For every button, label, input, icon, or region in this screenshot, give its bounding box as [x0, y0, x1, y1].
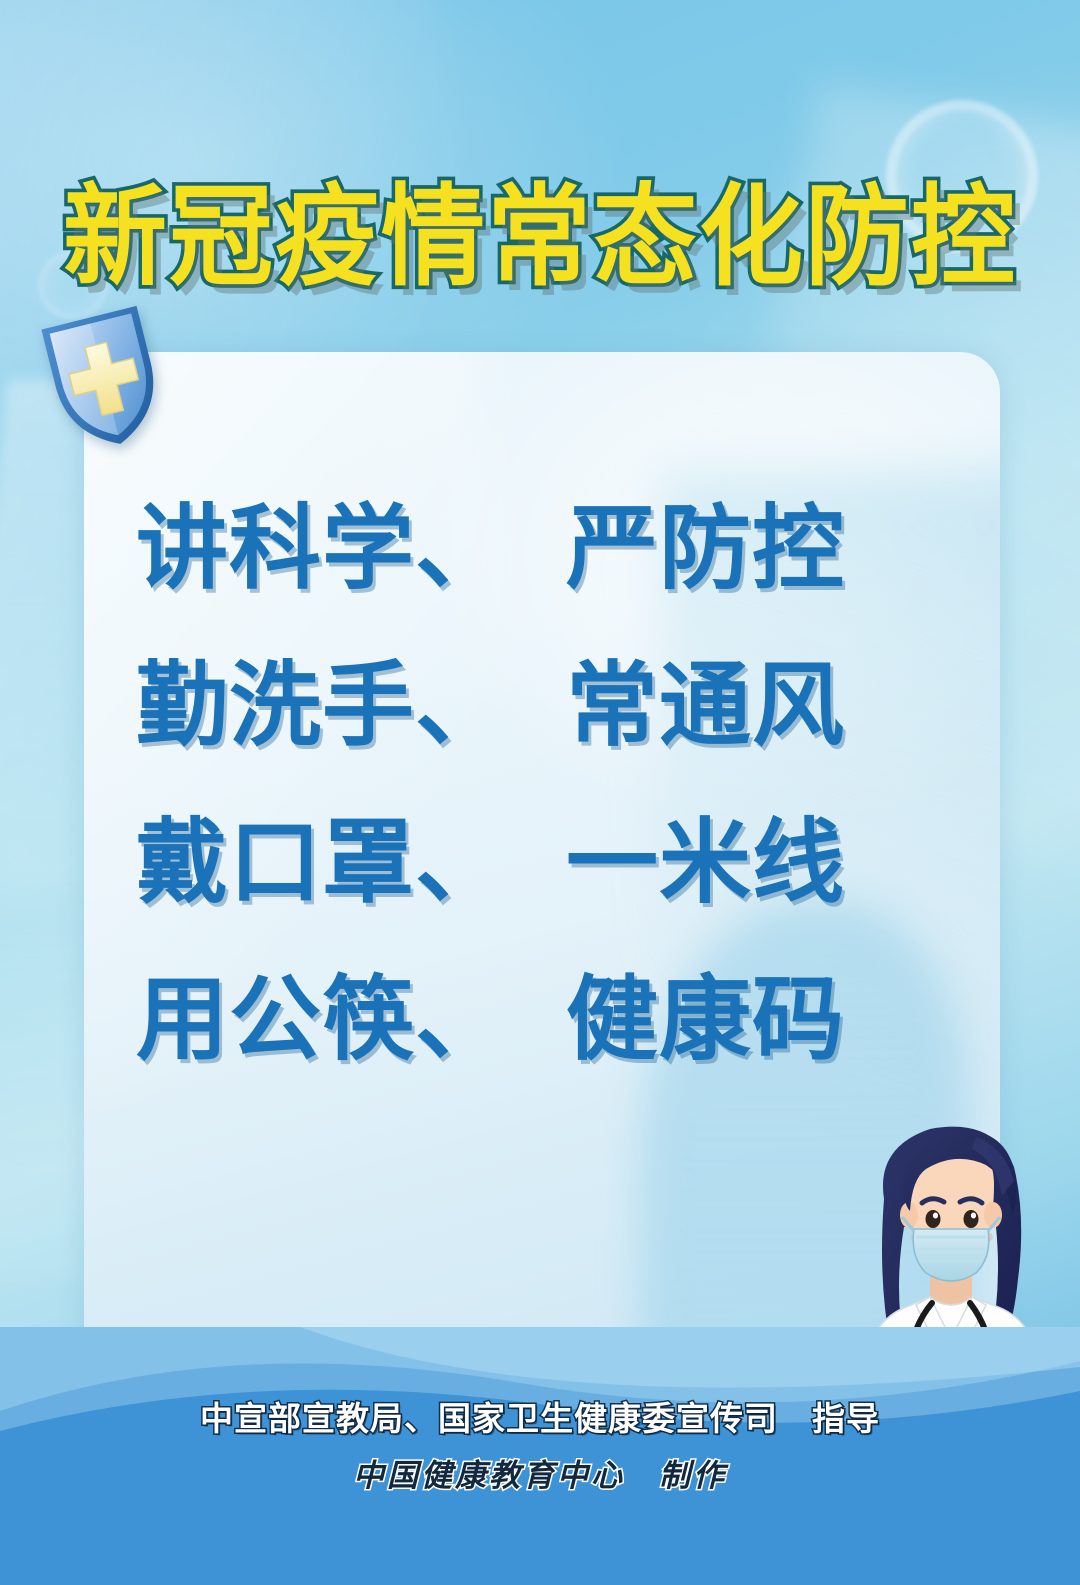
slogan-right: 严防控 — [556, 503, 986, 595]
page-title: 新冠疫情常态化防控 — [63, 182, 1017, 292]
slogan-left: 戴口罩、 — [98, 817, 556, 909]
title-wrapper: 新冠疫情常态化防控 — [0, 185, 1080, 289]
footer-band: 中宣部宣教局、国家卫生健康委宣传司 指导 中国健康教育中心 制作 — [0, 1327, 1080, 1585]
guidance-credit: 中宣部宣教局、国家卫生健康委宣传司 指导 — [0, 1392, 1080, 1440]
slogan-left: 勤洗手、 — [98, 660, 556, 752]
slogan-row: 用公筷、 健康码 — [84, 941, 1000, 1098]
shield-cross-icon — [34, 296, 172, 452]
producer-credit: 中国健康教育中心 制作 — [0, 1450, 1080, 1495]
slogan-row: 讲科学、 严防控 — [84, 470, 1000, 627]
slogan-right: 一米线 — [556, 817, 986, 909]
slogan-right: 常通风 — [556, 660, 986, 752]
poster-canvas: 新冠疫情常态化防控 — [0, 0, 1080, 1585]
slogan-right: 健康码 — [556, 974, 986, 1066]
slogan-left: 讲科学、 — [98, 503, 556, 595]
slogan-list: 讲科学、 严防控 勤洗手、 常通风 戴口罩、 一米线 用公筷、 健康码 — [84, 470, 1000, 1098]
slogan-row: 戴口罩、 一米线 — [84, 784, 1000, 941]
slogan-row: 勤洗手、 常通风 — [84, 627, 1000, 784]
slogan-left: 用公筷、 — [98, 974, 556, 1066]
